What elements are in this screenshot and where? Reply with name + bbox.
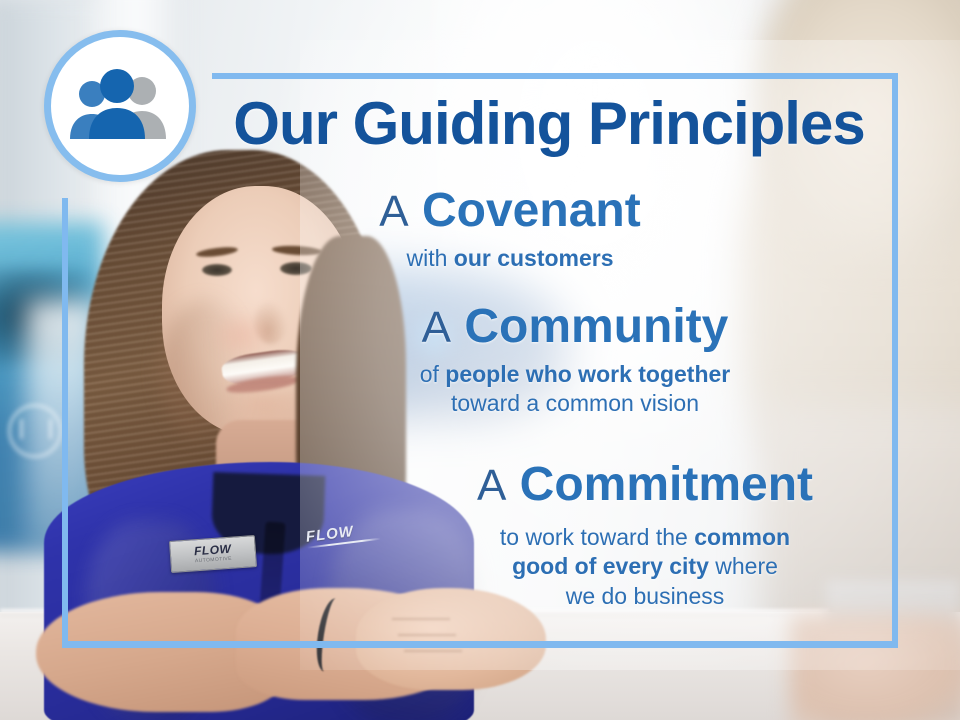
principle-article: A xyxy=(379,187,408,236)
subtext-emphasis: common xyxy=(694,524,790,550)
principle-commitment: A Commitment to work toward the commongo… xyxy=(420,460,870,611)
principle-article: A xyxy=(422,303,451,352)
principle-subtext: with our customers xyxy=(300,244,720,273)
subtext-plain: where xyxy=(709,553,778,579)
principle-subtext-line: we do business xyxy=(420,582,870,611)
subtext-emphasis: good of every city xyxy=(512,553,709,579)
principle-title: A Commitment xyxy=(420,460,870,511)
subtext-plain: with xyxy=(406,245,453,271)
principle-keyword: Community xyxy=(464,300,728,353)
principle-subtext-line: toward a common vision xyxy=(340,389,810,418)
principle-title: A Covenant xyxy=(300,186,720,237)
principle-subtext-line: with our customers xyxy=(300,244,720,273)
principle-subtext: of people who work togethertoward a comm… xyxy=(340,360,810,419)
subtext-emphasis: our customers xyxy=(454,245,614,271)
principle-keyword: Commitment xyxy=(520,458,813,511)
principle-subtext: to work toward the commongood of every c… xyxy=(420,523,870,611)
subtext-plain: toward a common vision xyxy=(451,390,699,416)
principle-covenant: A Covenant with our customers xyxy=(300,186,720,273)
banner-graphic: FLOW AUTOMOTIVE FLOW xyxy=(0,0,960,720)
subtext-plain: of xyxy=(420,361,446,387)
text-content: Our Guiding Principles A Covenant with o… xyxy=(0,0,960,720)
principle-title: A Community xyxy=(340,302,810,353)
principle-subtext-line: of people who work together xyxy=(340,360,810,389)
principle-article: A xyxy=(477,461,506,510)
principle-subtext-line: to work toward the common xyxy=(420,523,870,552)
subtext-plain: to work toward the xyxy=(500,524,694,550)
subtext-plain: we do business xyxy=(566,583,725,609)
principle-subtext-line: good of every city where xyxy=(420,552,870,581)
subtext-emphasis: people who work together xyxy=(445,361,730,387)
page-title: Our Guiding Principles xyxy=(214,94,884,154)
principle-keyword: Covenant xyxy=(422,184,641,237)
principle-community: A Community of people who work togethert… xyxy=(340,302,810,419)
